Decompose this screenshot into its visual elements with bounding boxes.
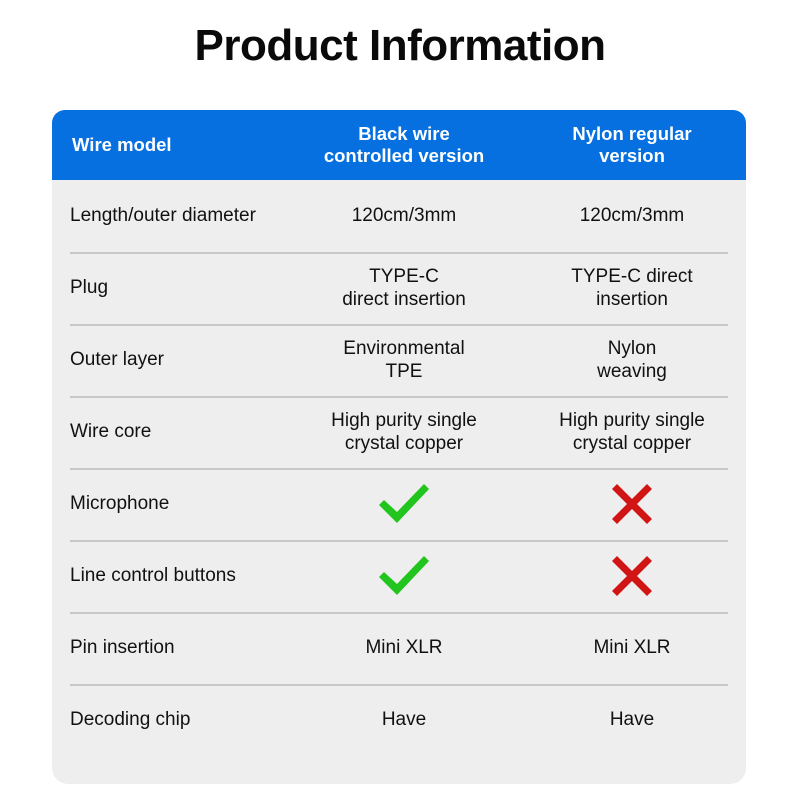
cell-value-line-2: TPE (300, 360, 508, 383)
row-label: Decoding chip (52, 708, 290, 731)
check-icon (375, 553, 433, 599)
cell-value-line-1: TYPE-C (300, 265, 508, 288)
cell-value-line-1: 120cm/3mm (528, 204, 736, 227)
row-label: Wire core (52, 420, 290, 443)
cell-value-col1: Mini XLR (290, 636, 518, 659)
check-icon (375, 481, 433, 527)
cell-value-line-2: weaving (528, 360, 736, 383)
table-row: PlugTYPE-Cdirect insertionTYPE-C directi… (52, 252, 746, 324)
cell-check-icon-col1 (290, 553, 518, 599)
cell-value-line-2: crystal copper (300, 432, 508, 455)
row-label: Line control buttons (52, 564, 290, 587)
table-row: Decoding chipHaveHave (52, 684, 746, 756)
table-header-row: Wire model Black wire controlled version… (52, 110, 746, 180)
table-row: Microphone (52, 468, 746, 540)
table-row: Pin insertionMini XLRMini XLR (52, 612, 746, 684)
cell-value-line-1: Nylon (528, 337, 736, 360)
cell-value-col2: 120cm/3mm (518, 204, 746, 227)
row-label: Microphone (52, 492, 290, 515)
table-row: Wire coreHigh purity singlecrystal coppe… (52, 396, 746, 468)
header-line-2: version (524, 145, 740, 167)
table-body: Length/outer diameter120cm/3mm120cm/3mmP… (52, 180, 746, 784)
cell-value-col1: EnvironmentalTPE (290, 337, 518, 383)
cell-value-line-1: High purity single (300, 409, 508, 432)
cell-check-icon-col1 (290, 481, 518, 527)
cell-value-line-2: direct insertion (300, 288, 508, 311)
spec-comparison-table: Wire model Black wire controlled version… (52, 110, 746, 784)
table-row: Length/outer diameter120cm/3mm120cm/3mm (52, 180, 746, 252)
page-title: Product Information (0, 0, 800, 70)
cell-value-line-1: High purity single (528, 409, 736, 432)
cell-value-col2: Have (518, 708, 746, 731)
header-line-2: controlled version (296, 145, 512, 167)
row-label: Plug (52, 276, 290, 299)
cell-cross-icon-col2 (518, 481, 746, 527)
cell-cross-icon-col2 (518, 553, 746, 599)
table-header-black-wire-controlled-version: Black wire controlled version (290, 123, 518, 167)
header-line-1: Nylon regular (524, 123, 740, 145)
cell-value-line-1: Have (528, 708, 736, 731)
cross-icon (609, 553, 655, 599)
table-header-wire-model: Wire model (52, 134, 290, 156)
cell-value-col2: High purity singlecrystal copper (518, 409, 746, 455)
cell-value-line-2: insertion (528, 288, 736, 311)
cell-value-line-1: TYPE-C direct (528, 265, 736, 288)
cell-value-col1: High purity singlecrystal copper (290, 409, 518, 455)
cell-value-line-1: Have (300, 708, 508, 731)
header-line-1: Black wire (296, 123, 512, 145)
cell-value-col1: TYPE-Cdirect insertion (290, 265, 518, 311)
row-label: Length/outer diameter (52, 204, 290, 227)
cell-value-line-1: Mini XLR (528, 636, 736, 659)
cross-icon (609, 481, 655, 527)
table-header-nylon-regular-version: Nylon regular version (518, 123, 746, 167)
cell-value-line-1: Environmental (300, 337, 508, 360)
cell-value-line-1: 120cm/3mm (300, 204, 508, 227)
row-label: Outer layer (52, 348, 290, 371)
table-row: Outer layerEnvironmentalTPENylonweaving (52, 324, 746, 396)
row-label: Pin insertion (52, 636, 290, 659)
cell-value-line-2: crystal copper (528, 432, 736, 455)
table-row: Line control buttons (52, 540, 746, 612)
cell-value-col2: TYPE-C directinsertion (518, 265, 746, 311)
cell-value-col1: Have (290, 708, 518, 731)
cell-value-col2: Mini XLR (518, 636, 746, 659)
cell-value-col1: 120cm/3mm (290, 204, 518, 227)
product-information-page: Product Information Wire model Black wir… (0, 0, 800, 800)
cell-value-col2: Nylonweaving (518, 337, 746, 383)
cell-value-line-1: Mini XLR (300, 636, 508, 659)
